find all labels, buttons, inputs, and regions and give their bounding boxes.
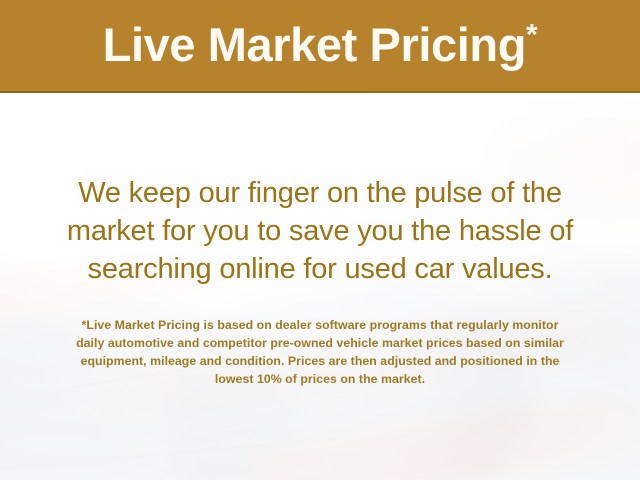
headline-line-2: market for you to save you the hassle of — [28, 212, 612, 250]
page-title-text: Live Market Pricing — [103, 18, 526, 71]
live-market-pricing-banner: Live Market Pricing* We keep our finger … — [0, 0, 640, 480]
header-bar: Live Market Pricing* — [0, 0, 640, 93]
disclaimer-line-3: equipment, mileage and condition. Prices… — [30, 352, 610, 370]
headline-line-1: We keep our finger on the pulse of the — [28, 174, 612, 212]
headline-line-3: searching online for used car values. — [28, 250, 612, 288]
disclaimer-line-2: daily automotive and competitor pre-owne… — [30, 334, 610, 352]
disclaimer-block: *Live Market Pricing is based on dealer … — [30, 316, 610, 388]
disclaimer-line-4: lowest 10% of prices on the market. — [30, 370, 610, 388]
page-title: Live Market Pricing* — [0, 16, 640, 74]
disclaimer-line-1: *Live Market Pricing is based on dealer … — [30, 316, 610, 334]
page-title-asterisk: * — [526, 18, 537, 51]
headline-block: We keep our finger on the pulse of the m… — [28, 174, 612, 288]
